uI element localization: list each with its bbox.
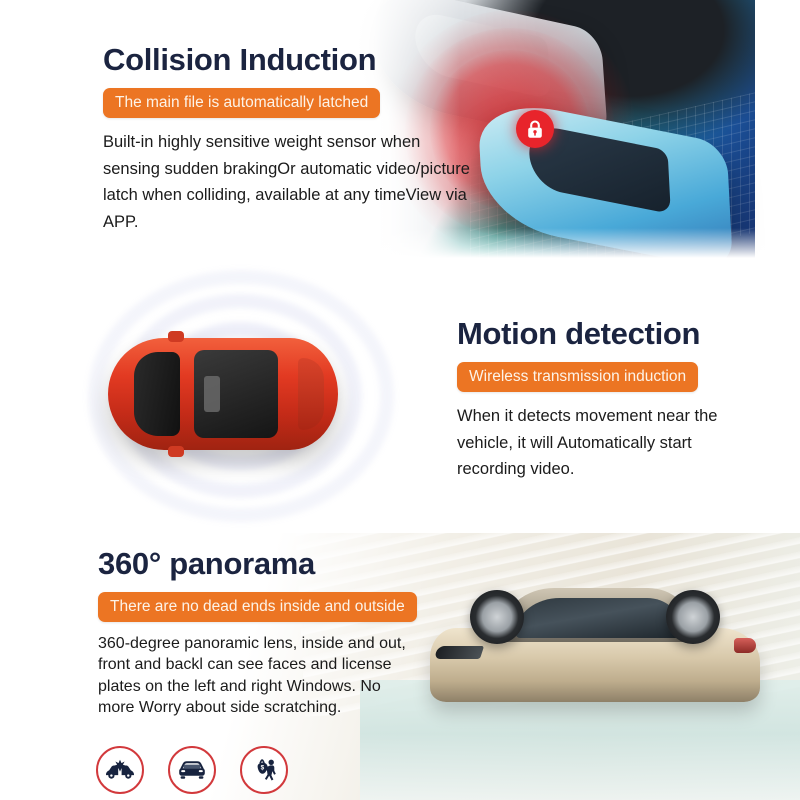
panorama-text-block: 360° panorama There are no dead ends ins… (98, 548, 417, 719)
collision-body-text: Built-in highly sensitive weight sensor … (103, 129, 473, 236)
car-sunroof (194, 350, 278, 438)
car-mirror-left (168, 331, 184, 342)
motion-badge: Wireless transmission induction (457, 362, 698, 393)
car-front-icon (168, 746, 216, 794)
panorama-badge: There are no dead ends inside and outsid… (98, 592, 417, 623)
sedan-front-wheel (470, 590, 524, 644)
sedan-headlight (434, 646, 484, 659)
collision-text-block: Collision Induction The main file is aut… (103, 44, 473, 236)
red-car-top-view (108, 338, 338, 450)
sedan-window-glass (516, 598, 681, 638)
collision-badge: The main file is automatically latched (103, 88, 380, 119)
section-motion-detection: Motion detection Wireless transmission i… (0, 258, 800, 533)
feature-icon-row: $ (96, 746, 288, 794)
thief-running-icon: $ (240, 746, 288, 794)
car-mirror-right (168, 446, 184, 457)
infographic-page: Collision Induction The main file is aut… (0, 0, 800, 800)
motion-radar-photo (40, 268, 440, 523)
section-collision-induction: Collision Induction The main file is aut… (0, 0, 800, 258)
panorama-body-text: 360-degree panoramic lens, inside and ou… (98, 633, 408, 719)
motion-body-text: When it detects movement near the vehicl… (457, 403, 727, 483)
car-windshield (134, 352, 180, 436)
motion-text-block: Motion detection Wireless transmission i… (457, 318, 727, 483)
motion-heading: Motion detection (457, 318, 727, 351)
car-collision-icon (96, 746, 144, 794)
lock-icon (516, 110, 554, 148)
car-rear-deck (298, 358, 324, 430)
sedan-rear-wheel (666, 590, 720, 644)
collision-heading: Collision Induction (103, 44, 473, 77)
panorama-heading: 360° panorama (98, 548, 417, 581)
sedan-taillight (734, 638, 756, 653)
